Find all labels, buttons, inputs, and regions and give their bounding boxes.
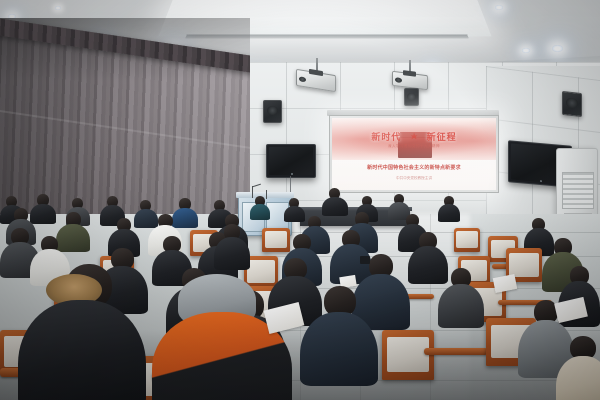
downlight [55, 6, 61, 10]
slide-main-line: 新时代中国特色社会主义的新特点新要求 [342, 164, 486, 171]
presenter [322, 188, 348, 214]
attendee [438, 268, 484, 326]
attendee-orange-coat [152, 268, 292, 400]
wall-speaker-left [263, 100, 282, 123]
wall-speaker-center [404, 88, 419, 106]
wall-speaker-right [562, 91, 582, 117]
attendee [300, 286, 378, 384]
chair-armrest [424, 348, 488, 355]
attendee [556, 336, 600, 400]
phone-in-hand [360, 256, 370, 264]
slide-headline-left: 新时代 [371, 130, 401, 143]
slide-headline-right: 新征程 [427, 130, 457, 143]
slide-credit-line: 中共中央党校教授主讲 [352, 176, 477, 181]
attendee [214, 224, 250, 268]
party-emblem-icon [410, 132, 418, 140]
downlight [495, 5, 503, 10]
presenter-body [322, 197, 348, 216]
conference-room-photo: 新时代 新征程 深入学习贯彻党的十九大精神 新时代中国特色社会主义的新特点新要求… [0, 0, 600, 400]
attendee-fur-hood [18, 256, 146, 400]
projection-screen: 新时代 新征程 深入学习贯彻党的十九大精神 新时代中国特色社会主义的新特点新要求… [329, 115, 499, 193]
downlight [522, 48, 530, 53]
slide-subtitle: 深入学习贯彻党的十九大精神 [345, 144, 483, 149]
tv-power-led [540, 180, 542, 182]
attendee [250, 196, 270, 218]
projected-slide: 新时代 新征程 深入学习贯彻党的十九大精神 新时代中国特色社会主义的新特点新要求… [332, 118, 496, 190]
tv-power-led [291, 173, 293, 175]
downlight [552, 45, 563, 52]
wall-tv-left [266, 144, 316, 178]
slide-headline: 新时代 新征程 [342, 130, 486, 144]
chair[interactable] [454, 228, 480, 252]
ac-vent-grille [562, 172, 594, 209]
attendee [438, 196, 460, 220]
chair[interactable] [382, 330, 434, 380]
tv-screen [269, 147, 313, 175]
